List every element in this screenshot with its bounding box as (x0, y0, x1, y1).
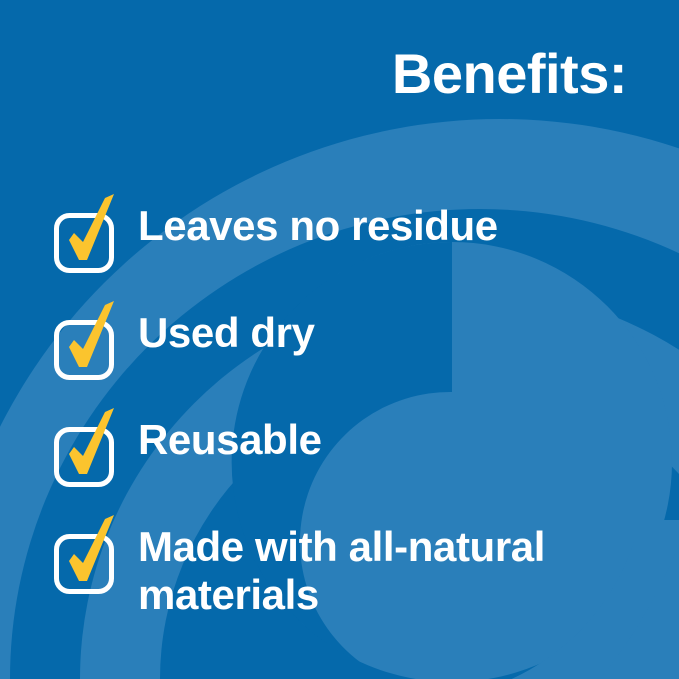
benefit-label: Leaves no residue (117, 190, 679, 250)
checkbox-checked-icon (53, 513, 117, 589)
page-title: Benefits: (392, 46, 627, 102)
benefit-item-made-with-all-natural-materials: Made with all-natural materials (0, 511, 679, 618)
benefit-item-reusable: Reusable (0, 404, 679, 511)
benefit-label: Used dry (117, 297, 679, 357)
benefit-item-leaves-no-residue: Leaves no residue (0, 190, 679, 297)
benefit-label: Made with all-natural materials (117, 511, 679, 619)
checkbox-checked-icon (53, 192, 117, 268)
benefits-list: Leaves no residue Used dry Reusable (0, 190, 679, 618)
benefits-panel: Benefits: Leaves no residue Used dry (0, 0, 679, 679)
benefit-label: Reusable (117, 404, 679, 464)
checkbox-checked-icon (53, 406, 117, 482)
benefit-item-used-dry: Used dry (0, 297, 679, 404)
checkbox-checked-icon (53, 299, 117, 375)
title-row: Benefits: (0, 46, 679, 102)
